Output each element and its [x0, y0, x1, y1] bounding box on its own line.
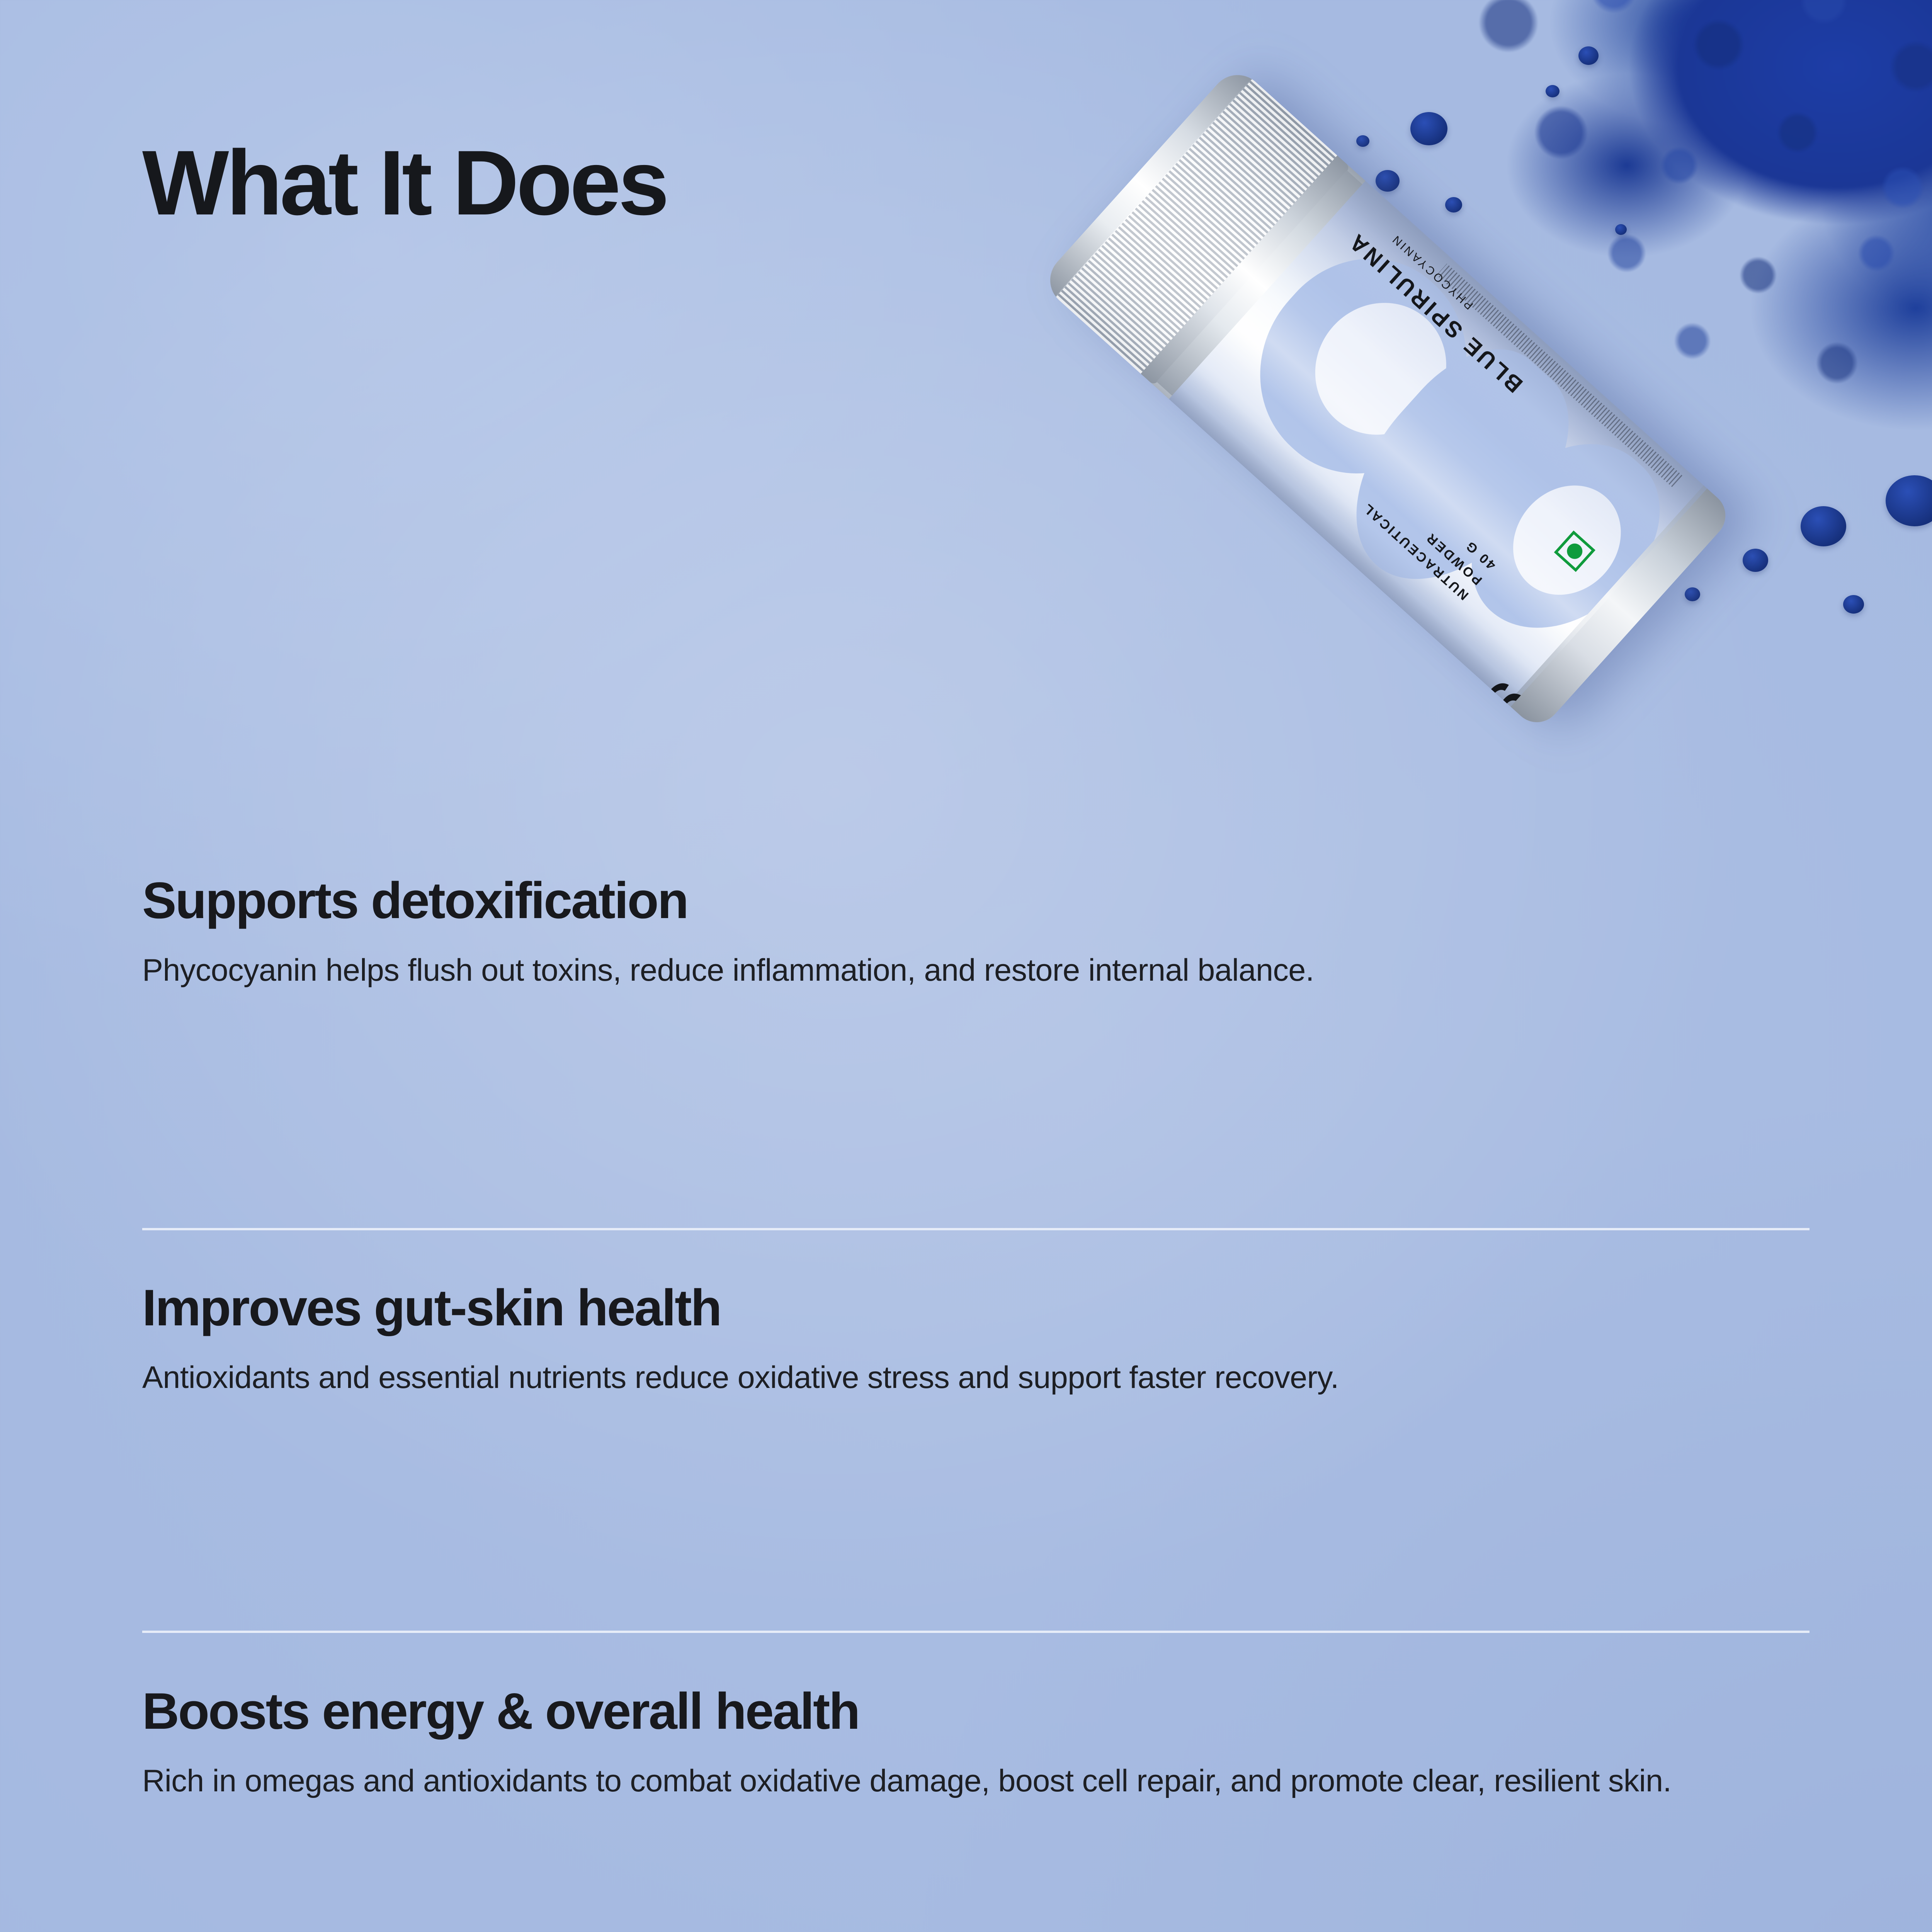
feature-block-detoxification: Supports detoxification Phycocyanin help…	[142, 874, 1811, 992]
page-title: What It Does	[142, 137, 667, 229]
feature-block-energy-overall-health: Boosts energy & overall health Rich in o…	[142, 1685, 1811, 1803]
product-photo: BLUE SPIRULINA PHYCOCYANIN NUTRACEUTICAL…	[1074, 0, 1932, 989]
feature-block-gut-skin-health: Improves gut-skin health Antioxidants an…	[142, 1281, 1811, 1400]
spirulina-bottle: BLUE SPIRULINA PHYCOCYANIN NUTRACEUTICAL…	[1039, 64, 1735, 732]
feature-body: Antioxidants and essential nutrients red…	[142, 1356, 1688, 1400]
feature-body: Rich in omegas and antioxidants to comba…	[142, 1760, 1688, 1803]
feature-body: Phycocyanin helps flush out toxins, redu…	[142, 949, 1688, 992]
feature-heading: Boosts energy & overall health	[142, 1685, 1811, 1738]
section-divider	[142, 1631, 1810, 1633]
section-divider	[142, 1228, 1810, 1230]
feature-heading: Improves gut-skin health	[142, 1281, 1811, 1335]
feature-heading: Supports detoxification	[142, 874, 1811, 927]
